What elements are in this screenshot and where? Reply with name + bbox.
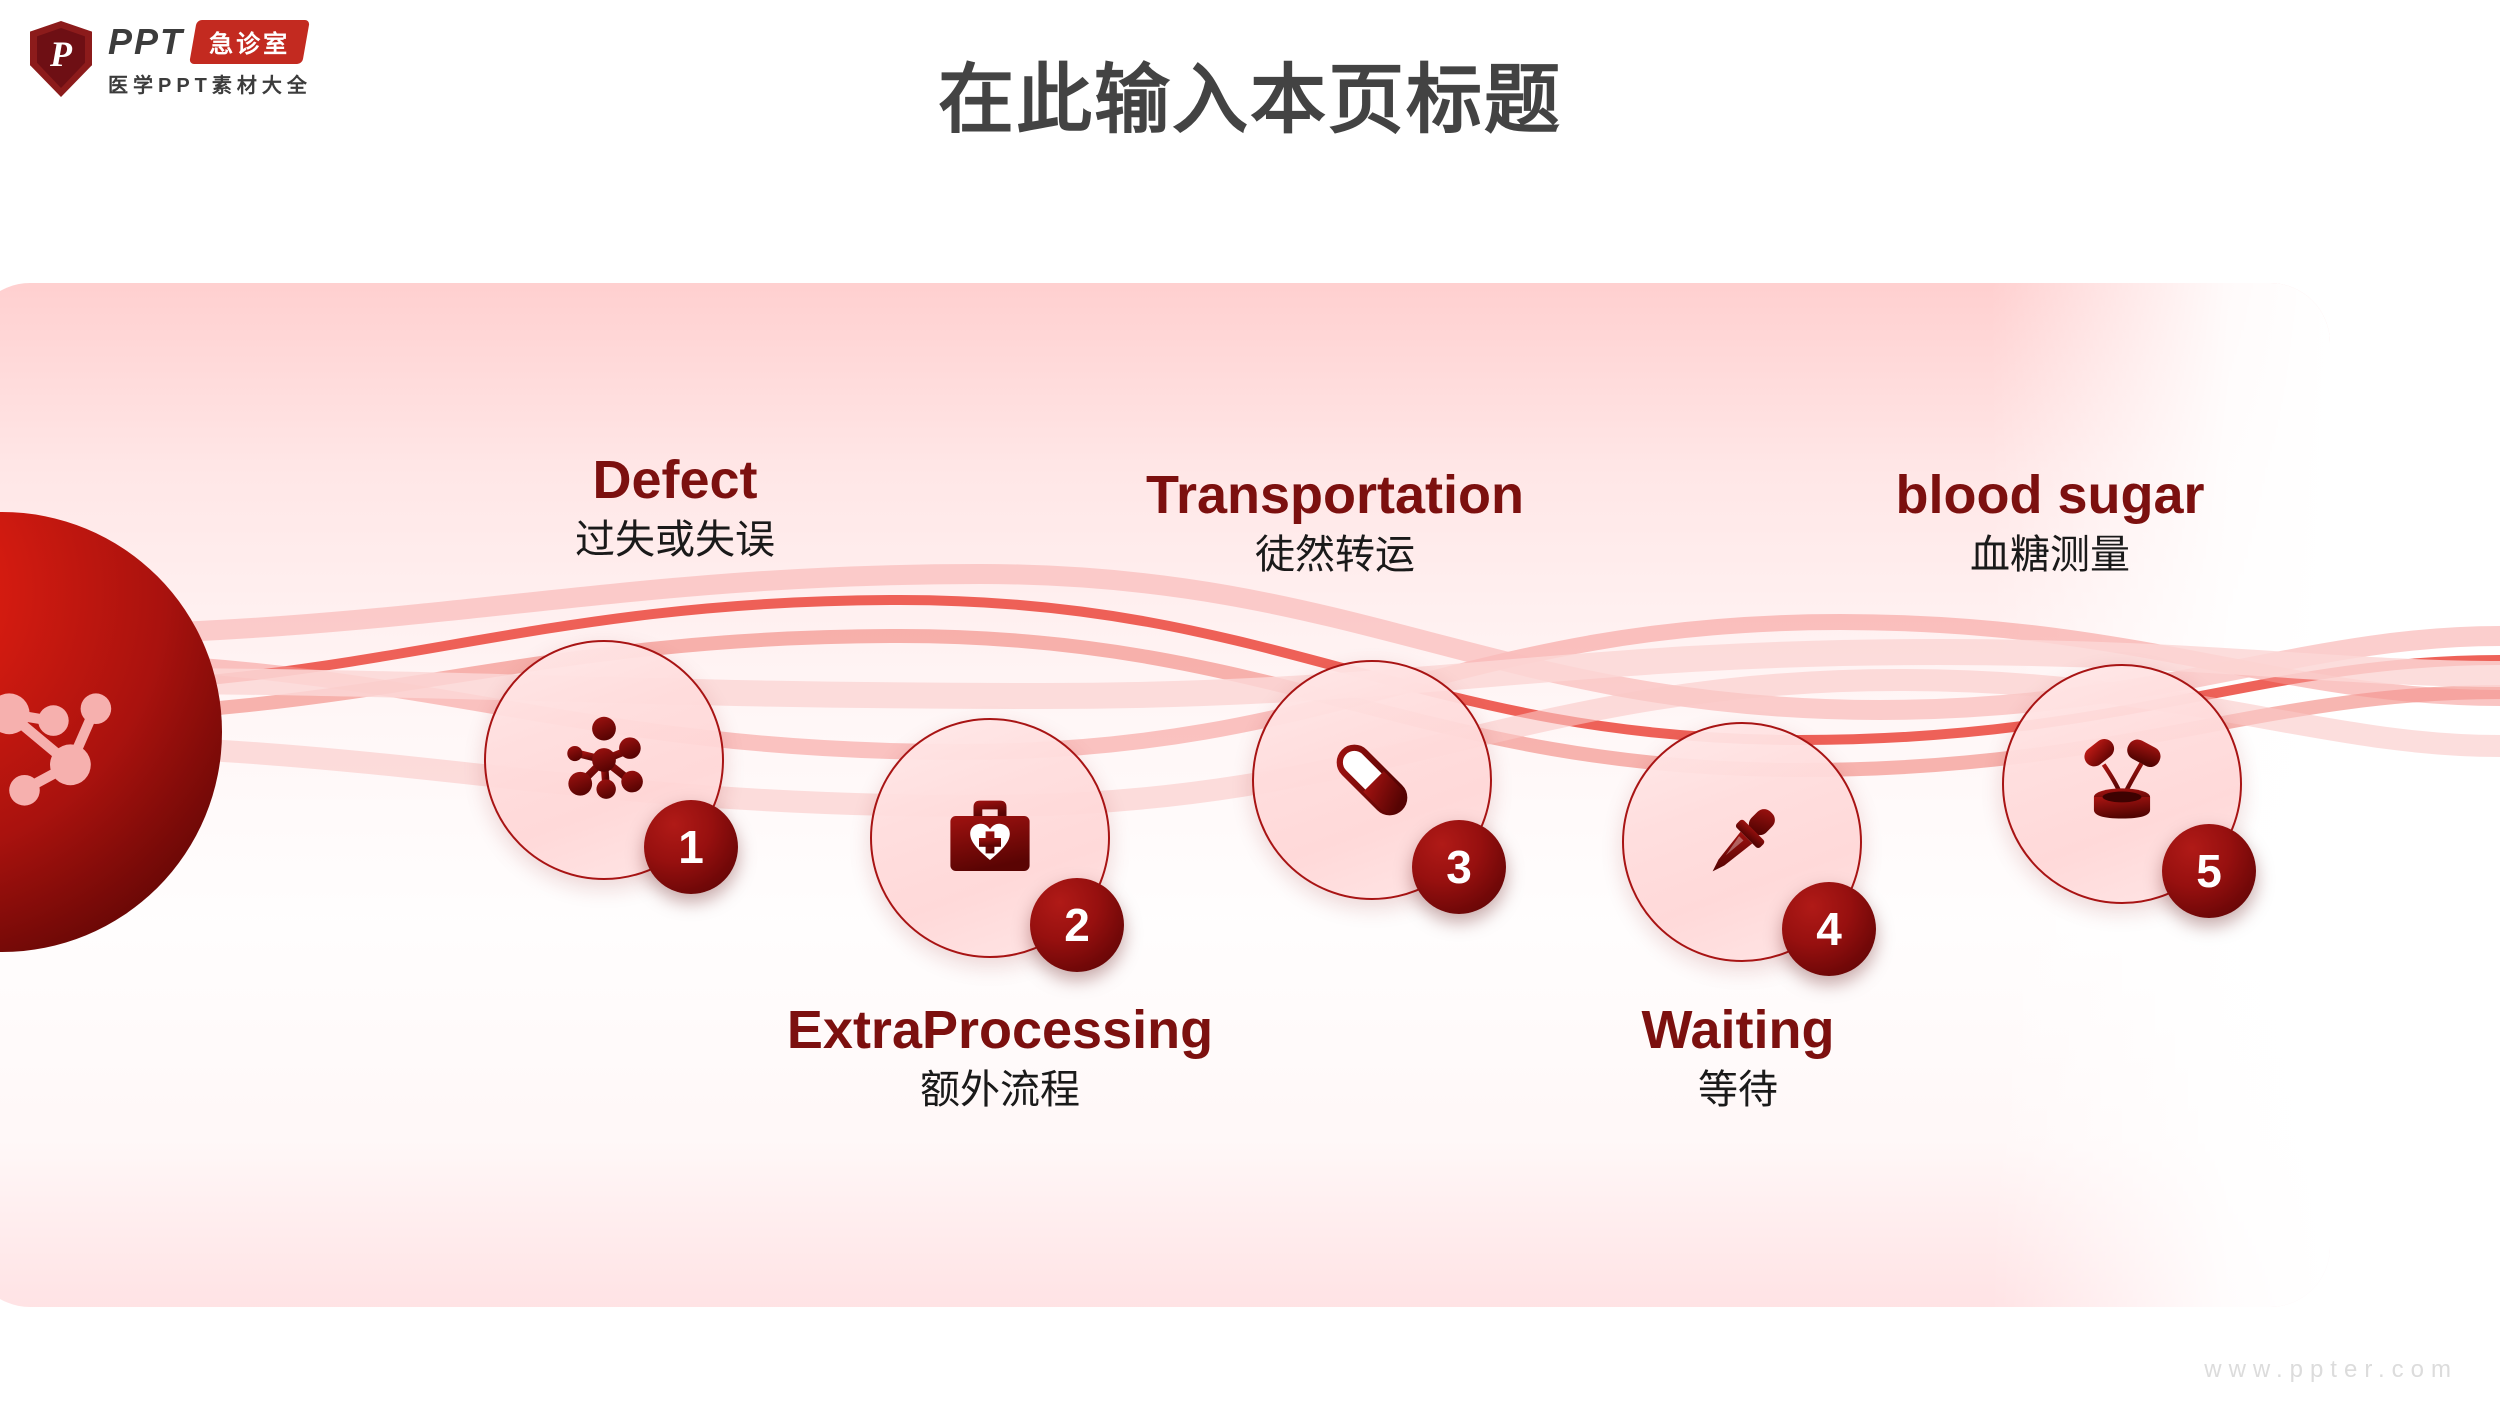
step-title-cn-5: 血糖测量 [1740, 529, 2360, 581]
step-circle-4[interactable]: 4 [1622, 722, 1862, 962]
dropper-pipette-icon [1690, 790, 1794, 894]
step-title-en-5: blood sugar [1740, 465, 2360, 525]
step-label-3: Transportation 徒然转运 [1025, 465, 1645, 581]
step-label-4: Waiting 等待 [1428, 1000, 2048, 1116]
step-title-cn-4: 等待 [1428, 1064, 2048, 1116]
step-number-badge-2: 2 [1030, 878, 1124, 972]
step-title-en-1: Defect [365, 450, 985, 510]
step-circle-2[interactable]: 2 [870, 718, 1110, 958]
capsule-pill-icon [1320, 728, 1424, 832]
molecule-icon [550, 706, 658, 814]
step-label-2: ExtraProcessing 额外流程 [690, 1000, 1310, 1116]
step-title-cn-1: 过失或失误 [365, 514, 985, 566]
step-title-cn-2: 额外流程 [690, 1064, 1310, 1116]
footer-url: www.ppter.com [2204, 1356, 2458, 1384]
step-title-en-4: Waiting [1428, 1000, 2048, 1060]
medical-kit-icon [935, 783, 1045, 893]
network-nodes-icon [0, 656, 135, 826]
step-circle-5[interactable]: 5 [2002, 664, 2242, 904]
page-title: 在此输入本页标题 [0, 38, 2500, 148]
step-number-badge-1: 1 [644, 800, 738, 894]
pills-dish-icon [2068, 730, 2176, 838]
step-title-en-2: ExtraProcessing [690, 1000, 1310, 1060]
step-label-5: blood sugar 血糖测量 [1740, 465, 2360, 581]
content-panel [0, 283, 2330, 1307]
step-number-badge-3: 3 [1412, 820, 1506, 914]
step-title-cn-3: 徒然转运 [1025, 529, 1645, 581]
step-title-en-3: Transportation [1025, 465, 1645, 525]
step-number-badge-4: 4 [1782, 882, 1876, 976]
step-circle-1[interactable]: 1 [484, 640, 724, 880]
step-label-1: Defect 过失或失误 [365, 450, 985, 566]
step-circle-3[interactable]: 3 [1252, 660, 1492, 900]
step-number-badge-5: 5 [2162, 824, 2256, 918]
